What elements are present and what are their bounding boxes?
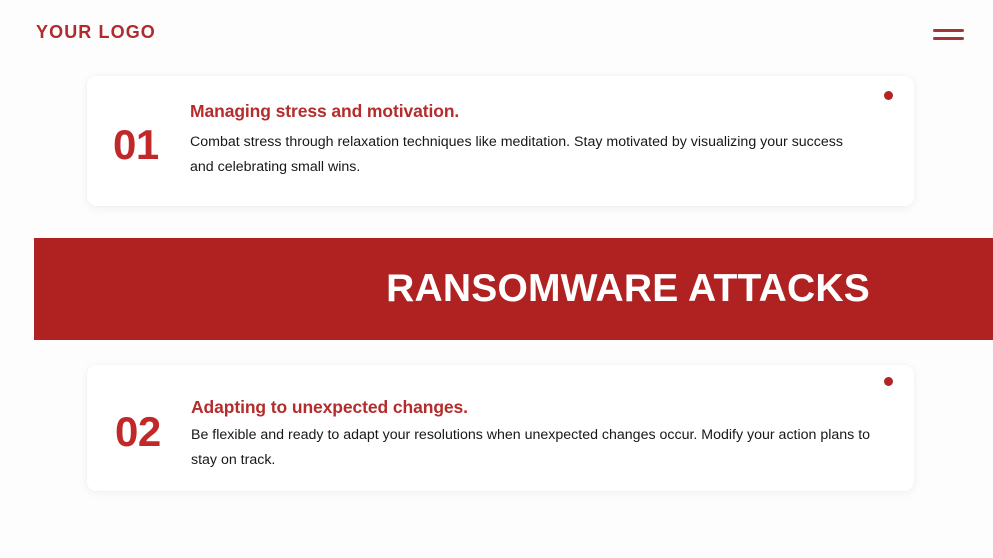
page-root: YOUR LOGO 01 Managing stress and motivat… — [0, 0, 993, 558]
card-description: Combat stress through relaxation techniq… — [190, 130, 870, 180]
banner-title: RANSOMWARE ATTACKS — [386, 267, 993, 311]
card-body: Adapting to unexpected changes. Be flexi… — [191, 396, 881, 473]
content-card-01[interactable]: 01 Managing stress and motivation. Comba… — [87, 76, 914, 206]
card-number-label: 02 — [115, 411, 161, 453]
card-body: Managing stress and motivation. Combat s… — [190, 100, 870, 180]
card-inner: 01 Managing stress and motivation. Comba… — [87, 76, 914, 206]
site-header: YOUR LOGO — [0, 0, 993, 66]
bullet-dot-indicator-icon — [884, 91, 893, 100]
card-title: Adapting to unexpected changes. — [191, 396, 881, 419]
card-description: Be flexible and ready to adapt your reso… — [191, 423, 881, 473]
hamburger-menu-icon[interactable] — [933, 22, 967, 44]
content-card-02[interactable]: 02 Adapting to unexpected changes. Be fl… — [87, 365, 914, 491]
card-number-label: 01 — [113, 124, 159, 166]
hamburger-bar-top — [933, 29, 964, 32]
card-title: Managing stress and motivation. — [190, 100, 870, 123]
card-inner: 02 Adapting to unexpected changes. Be fl… — [87, 365, 914, 491]
brand-logo[interactable]: YOUR LOGO — [36, 22, 156, 43]
bullet-dot-indicator-icon — [884, 377, 893, 386]
ransomware-banner: RANSOMWARE ATTACKS — [34, 238, 993, 340]
hamburger-bar-bottom — [933, 37, 964, 40]
